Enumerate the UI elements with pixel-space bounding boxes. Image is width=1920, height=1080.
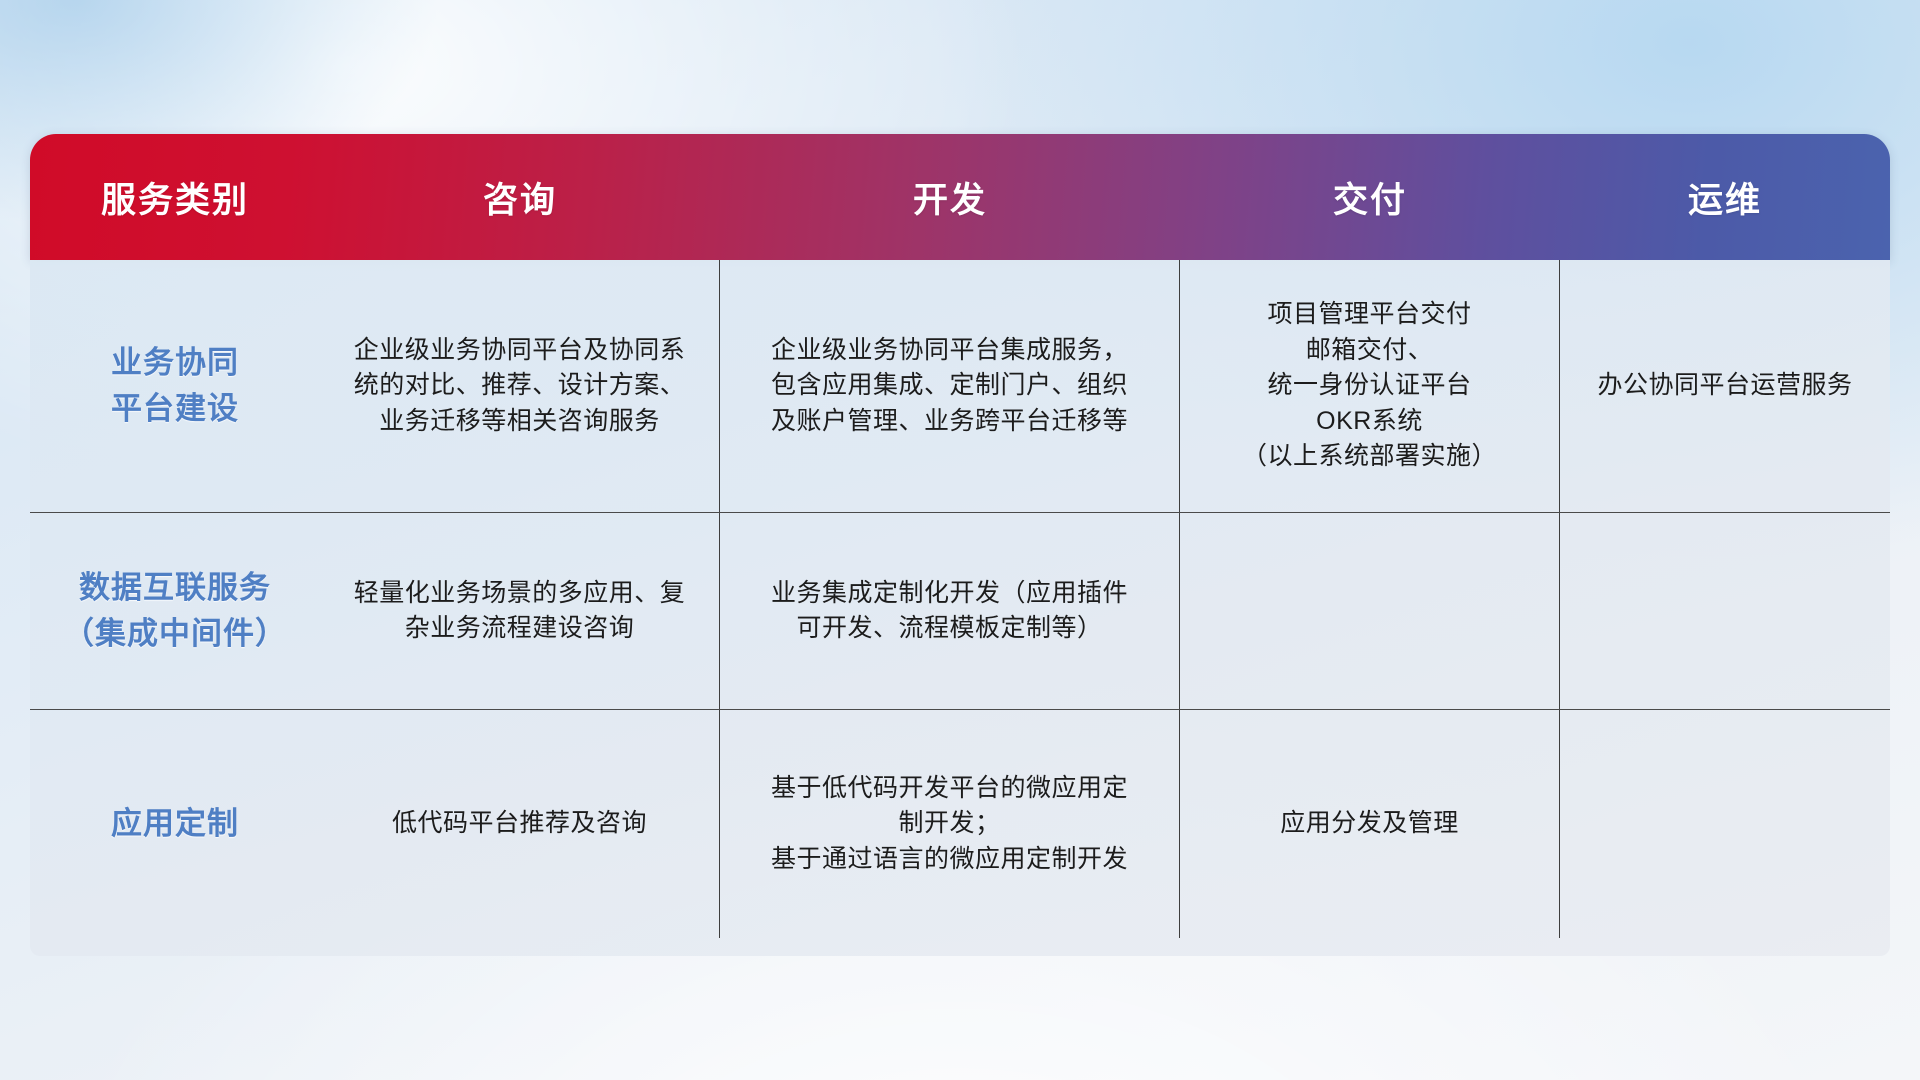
row-category-label: 应用定制 — [30, 710, 320, 938]
table-row: 业务协同 平台建设 企业级业务协同平台及协同系 统的对比、推荐、设计方案、 业务… — [30, 260, 1890, 512]
cell-consulting: 企业级业务协同平台及协同系 统的对比、推荐、设计方案、 业务迁移等相关咨询服务 — [320, 260, 720, 512]
column-header-development: 开发 — [720, 134, 1180, 260]
column-header-operations: 运维 — [1560, 134, 1890, 260]
cell-operations — [1560, 710, 1890, 938]
row-category-label: 业务协同 平台建设 — [30, 260, 320, 512]
cell-consulting: 轻量化业务场景的多应用、复 杂业务流程建设咨询 — [320, 513, 720, 709]
cell-operations — [1560, 513, 1890, 709]
page-canvas: 服务类别 咨询 开发 交付 运维 业务协同 平台建设 企业级业务协同平台及协同系… — [0, 0, 1920, 1080]
table-row: 应用定制 低代码平台推荐及咨询 基于低代码开发平台的微应用定 制开发； 基于通过… — [30, 709, 1890, 938]
table-row: 数据互联服务 （集成中间件） 轻量化业务场景的多应用、复 杂业务流程建设咨询 业… — [30, 512, 1890, 709]
cell-development: 基于低代码开发平台的微应用定 制开发； 基于通过语言的微应用定制开发 — [720, 710, 1180, 938]
column-header-consulting: 咨询 — [320, 134, 720, 260]
cell-delivery: 项目管理平台交付 邮箱交付、 统一身份认证平台 OKR系统 （以上系统部署实施） — [1180, 260, 1560, 512]
cell-delivery — [1180, 513, 1560, 709]
cell-delivery: 应用分发及管理 — [1180, 710, 1560, 938]
cell-development: 企业级业务协同平台集成服务， 包含应用集成、定制门户、组织 及账户管理、业务跨平… — [720, 260, 1180, 512]
column-header-delivery: 交付 — [1180, 134, 1560, 260]
service-matrix-table: 服务类别 咨询 开发 交付 运维 业务协同 平台建设 企业级业务协同平台及协同系… — [30, 134, 1890, 956]
cell-development: 业务集成定制化开发（应用插件 可开发、流程模板定制等） — [720, 513, 1180, 709]
row-category-label: 数据互联服务 （集成中间件） — [30, 513, 320, 709]
cell-operations: 办公协同平台运营服务 — [1560, 260, 1890, 512]
cell-consulting: 低代码平台推荐及咨询 — [320, 710, 720, 938]
table-body: 业务协同 平台建设 企业级业务协同平台及协同系 统的对比、推荐、设计方案、 业务… — [30, 260, 1890, 956]
table-header-row: 服务类别 咨询 开发 交付 运维 — [30, 134, 1890, 260]
column-header-category: 服务类别 — [30, 134, 320, 260]
